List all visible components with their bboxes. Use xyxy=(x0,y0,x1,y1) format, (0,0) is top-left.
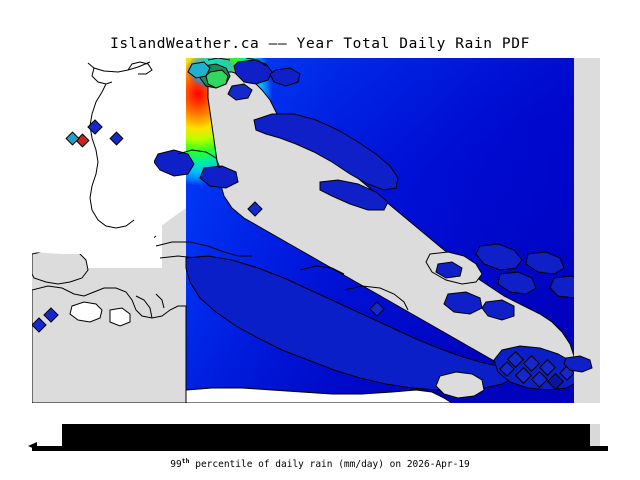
colorbar-caption: 99th percentile of daily rain (mm/day) o… xyxy=(0,457,640,470)
strait-coastline-upper xyxy=(156,242,252,256)
colorbar xyxy=(32,424,608,446)
inlet-north-blue-3 xyxy=(270,68,300,86)
caption-text: percentile of daily rain (mm/day) on 202… xyxy=(190,459,470,470)
percentile-suffix: th xyxy=(182,457,190,465)
outside-domain-white-west xyxy=(32,58,154,254)
coastline-overlay xyxy=(32,58,600,403)
colorbar-gradient xyxy=(62,424,590,446)
south-shore-coastline xyxy=(186,388,452,403)
outside-domain-right-margin xyxy=(574,58,600,403)
page-title: IslandWeather.ca —— Year Total Daily Rai… xyxy=(0,36,640,52)
colorbar-axis-line xyxy=(32,446,608,451)
percentile-number: 99 xyxy=(170,459,181,470)
colorbar-overflow-cap xyxy=(590,424,600,446)
map-panel xyxy=(32,58,600,403)
inlet-north-cyan xyxy=(188,62,210,78)
